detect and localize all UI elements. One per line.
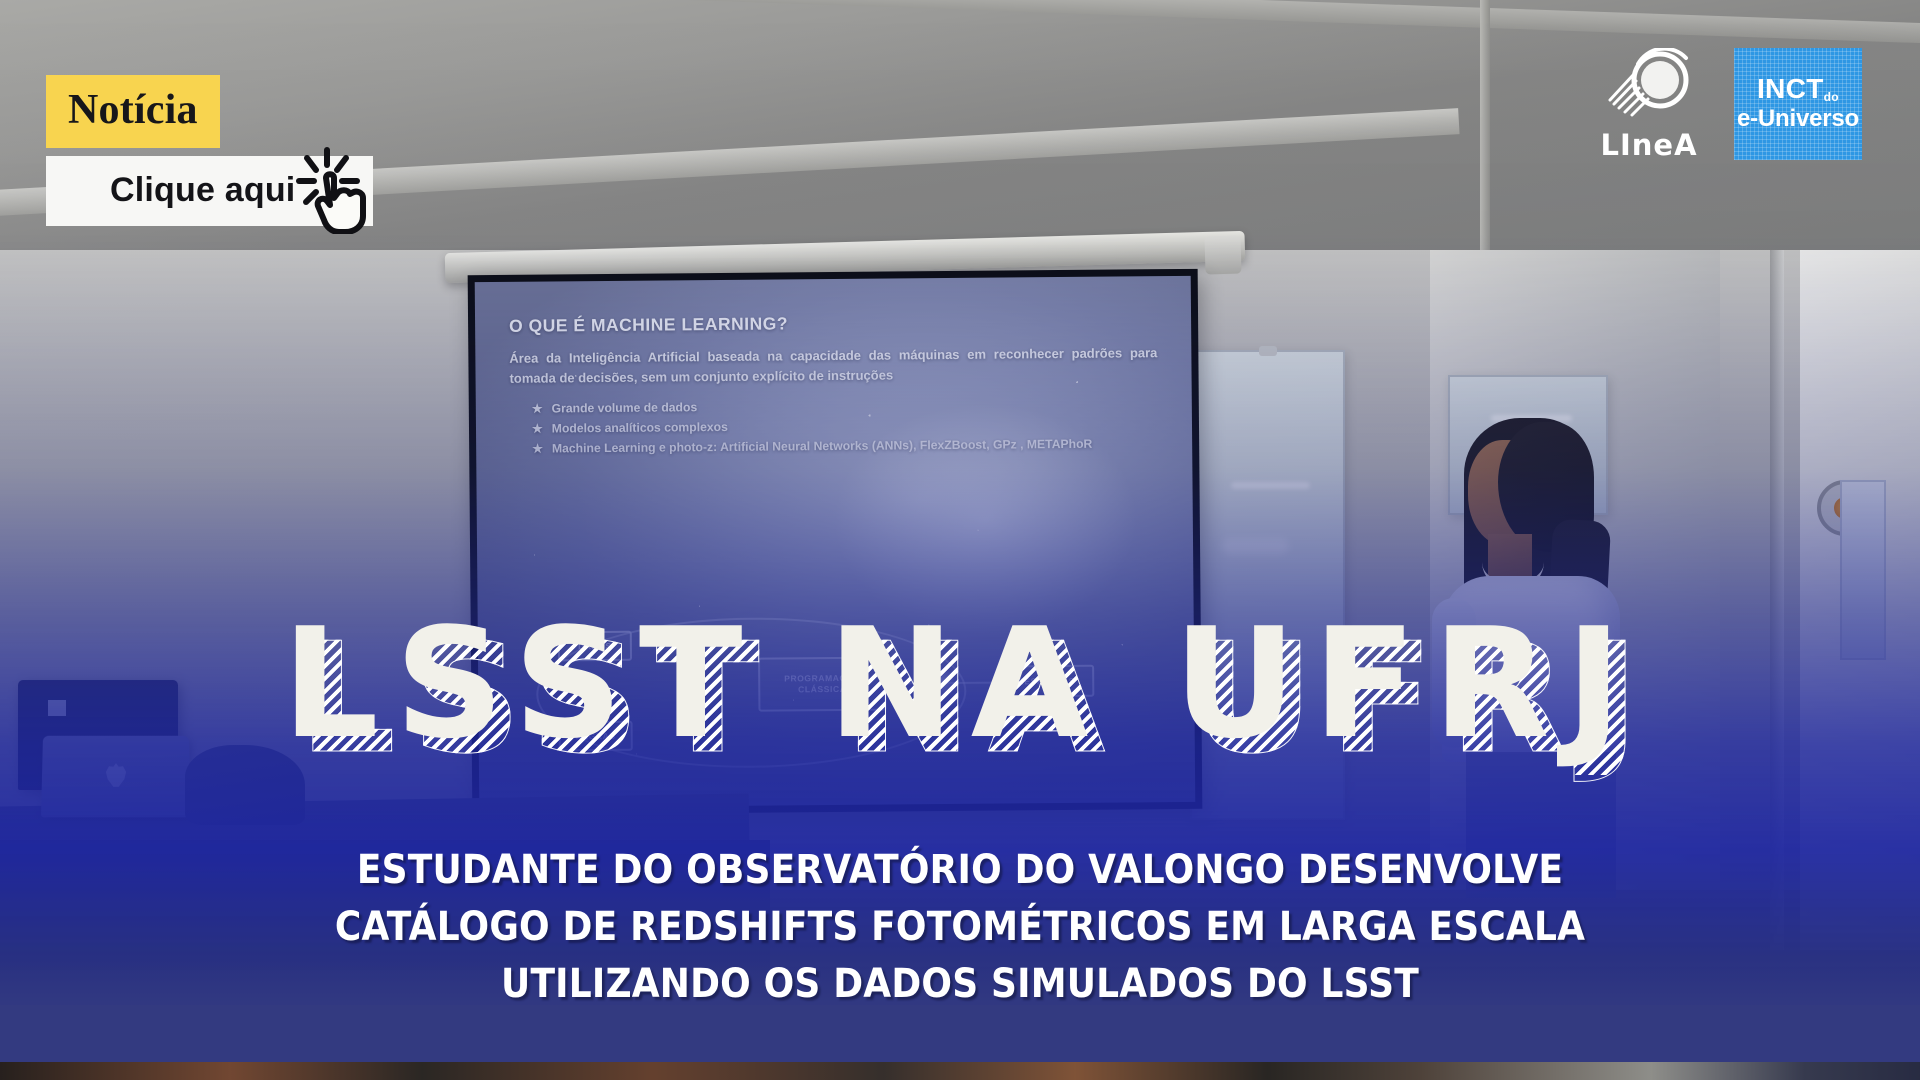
page-title-text: LSST NA UFRJ [0,608,1920,760]
subtitle-line: UTILIZANDO OS DADOS SIMULADOS DO LSST [96,956,1824,1013]
star-icon: ★ [532,400,543,418]
logo-group: LIneA INCTdo e-Universo [1590,48,1862,160]
star-icon: ★ [532,420,543,438]
linea-wordmark: LIneA [1590,131,1708,160]
click-hand-icon [296,144,384,234]
slide-bullet-list: ★ Grande volume de dados ★ Modelos analí… [532,394,1158,459]
inct-line2: e-Universo [1737,106,1859,132]
projector-screen-roller-cap [1204,236,1241,275]
inct-acronym: INCT [1757,73,1824,104]
inct-line1: INCTdo [1757,75,1839,103]
slide-heading: O QUE É MACHINE LEARNING? [509,310,1157,337]
blue-solid-band [0,1005,1920,1062]
news-badge: Notícia [46,75,220,148]
list-item: ★ Machine Learning e photo-z: Artificial… [532,434,1158,459]
whiteboard-glare [1231,482,1310,489]
slide-paragraph: Área da Inteligência Artificial baseada … [509,343,1157,389]
whiteboard-glare-soft [1222,538,1288,554]
subtitle-line: ESTUDANTE DO OBSERVATÓRIO DO VALONGO DES… [96,842,1824,899]
linea-logo: LIneA [1590,48,1708,160]
whiteboard-clip [1259,346,1277,356]
bottom-photo-strip [0,1062,1920,1080]
page-title: LSST NA UFRJ LSST NA UFRJ [0,608,1920,760]
ceiling-seam [1480,0,1490,258]
subtitle-line: CATÁLOGO DE REDSHIFTS FOTOMÉTRICOS EM LA… [96,899,1824,956]
promo-banner: O QUE É MACHINE LEARNING? Área da Inteli… [0,0,1920,1080]
slide-bullet-text: Modelos analíticos complexos [552,418,728,439]
slide-bullet-text: Grande volume de dados [552,398,698,419]
comet-circle-icon [1590,48,1708,126]
subtitle: ESTUDANTE DO OBSERVATÓRIO DO VALONGO DES… [0,842,1920,1012]
star-icon: ★ [532,439,543,457]
inct-e-universo-logo: INCTdo e-Universo [1734,48,1862,160]
inct-subscript: do [1824,90,1839,104]
slide-bullet-text: Machine Learning e photo-z: Artificial N… [552,435,1093,459]
